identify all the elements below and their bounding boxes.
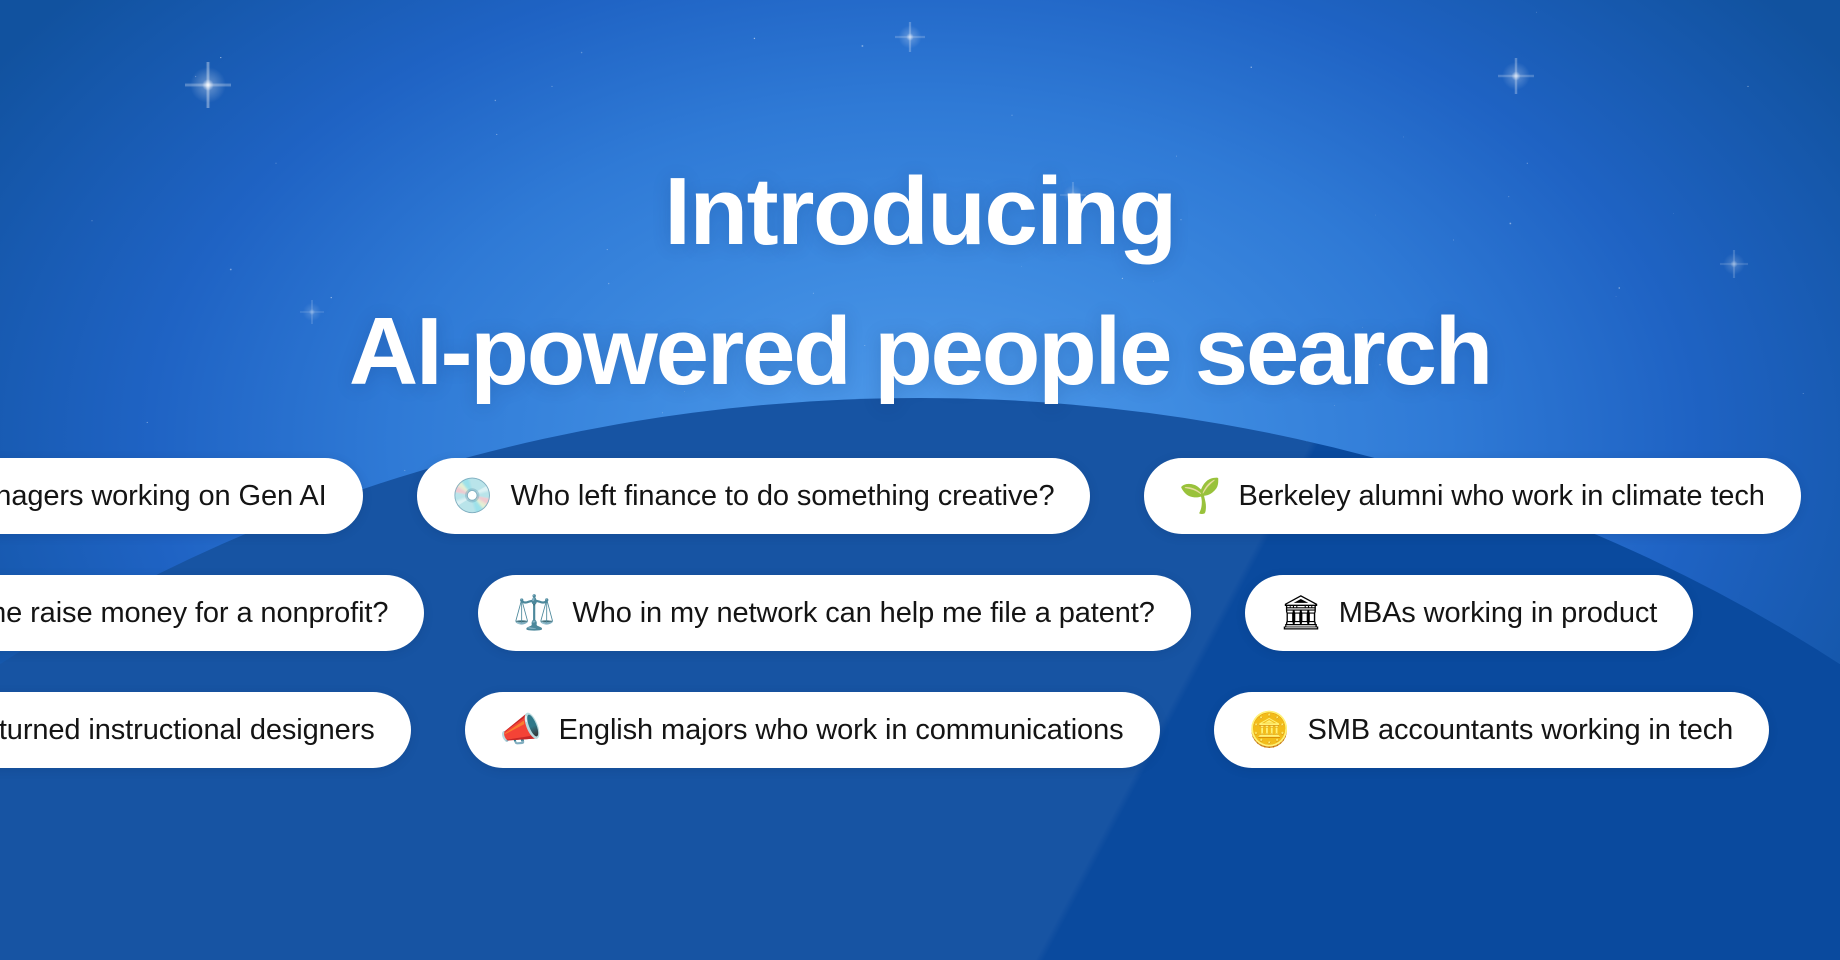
- suggestion-pill[interactable]: Product Managers working on Gen AI: [0, 458, 363, 534]
- star-glint-icon: [1498, 58, 1534, 94]
- suggestion-pill[interactable]: 📣 English majors who work in communicati…: [465, 692, 1160, 768]
- university-building-icon: 🏛: [1281, 593, 1321, 633]
- suggestion-row: Product Managers working on Gen AI 💿 Who…: [0, 458, 1840, 534]
- coins-icon: 🪙: [1250, 710, 1290, 750]
- star-glint-icon: [895, 22, 925, 52]
- suggestion-pill[interactable]: 🪙 SMB accountants working in tech: [1214, 692, 1770, 768]
- seedling-flask-icon: 🌱: [1180, 476, 1220, 516]
- suggestion-pill[interactable]: Who can help me raise money for a nonpro…: [0, 575, 424, 651]
- vinyl-record-icon: 💿: [453, 476, 493, 516]
- marketing-hero-banner: Introducing AI-powered people search Pro…: [0, 0, 1840, 960]
- suggestion-pill[interactable]: 🏛 MBAs working in product: [1245, 575, 1693, 651]
- headline-line-2: AI-powered people search: [0, 282, 1840, 422]
- suggestion-pill-label: Product Managers working on Gen AI: [0, 480, 327, 513]
- suggestion-row: Who can help me raise money for a nonpro…: [0, 575, 1840, 651]
- suggestion-pill[interactable]: 🌱 Berkeley alumni who work in climate te…: [1144, 458, 1800, 534]
- suggestion-pill-label: Teachers turned instructional designers: [0, 714, 375, 747]
- suggestion-pill-label: Who can help me raise money for a nonpro…: [0, 597, 388, 630]
- suggestion-pill-label: MBAs working in product: [1339, 597, 1657, 630]
- suggestion-pill[interactable]: 💿 Who left finance to do something creat…: [417, 458, 1091, 534]
- suggestion-pill-label: Who in my network can help me file a pat…: [572, 597, 1154, 630]
- suggestion-pill-label: SMB accountants working in tech: [1308, 714, 1734, 747]
- suggestion-pill-label: Who left finance to do something creativ…: [511, 480, 1055, 513]
- balance-scale-icon: ⚖️: [514, 593, 554, 633]
- suggestion-pill[interactable]: Teachers turned instructional designers: [0, 692, 411, 768]
- megaphone-icon: 📣: [501, 710, 541, 750]
- suggestion-row: Teachers turned instructional designers …: [0, 692, 1840, 768]
- headline-line-1: Introducing: [664, 158, 1175, 265]
- suggestion-pill-label: English majors who work in communication…: [559, 714, 1124, 747]
- suggestion-pill-label: Berkeley alumni who work in climate tech: [1238, 480, 1764, 513]
- page-title: Introducing AI-powered people search: [0, 142, 1840, 422]
- suggestion-pill-rows: Product Managers working on Gen AI 💿 Who…: [0, 458, 1840, 809]
- suggestion-pill[interactable]: ⚖️ Who in my network can help me file a …: [478, 575, 1190, 651]
- star-glint-icon: [185, 62, 231, 108]
